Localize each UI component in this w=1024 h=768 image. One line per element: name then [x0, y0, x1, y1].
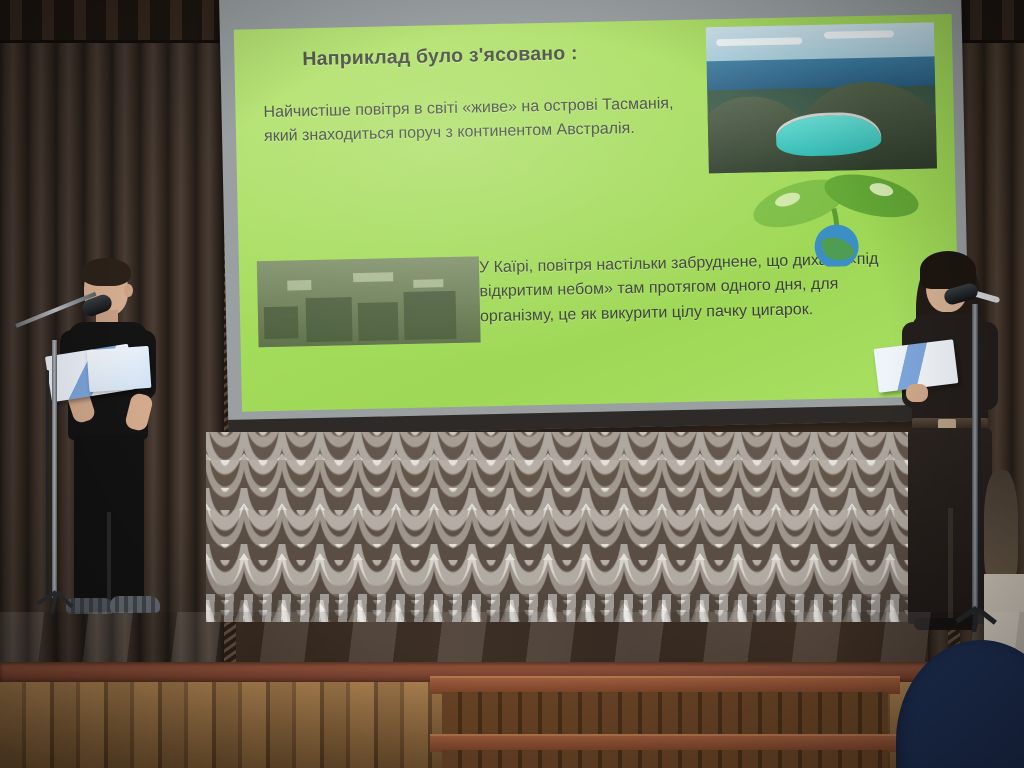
auditorium-stage-photo: Наприклад було з'ясовано : Найчистіше по…	[0, 0, 1024, 768]
tasmania-coast-photo	[706, 22, 937, 173]
city-block	[358, 302, 399, 341]
mic-pole	[972, 304, 978, 614]
presenter-ear	[124, 284, 133, 297]
presentation-slide: Наприклад було з'ясовано : Найчистіше по…	[234, 14, 960, 412]
slide-paragraph-tasmania: Найчистіше повітря в світі «живе» на ост…	[263, 92, 694, 150]
city-highlight	[413, 279, 443, 288]
mic-pole	[52, 340, 57, 598]
projection-screen: Наприклад було з'ясовано : Найчистіше по…	[219, 0, 970, 436]
festoon-backdrop-curtain	[206, 432, 974, 622]
city-highlight	[287, 280, 311, 291]
mic-tripod-base	[18, 592, 94, 614]
sprout-globe-photo	[721, 160, 949, 269]
mic-cable	[978, 338, 981, 610]
slide-title: Наприклад було з'ясовано :	[302, 42, 578, 71]
city-block	[264, 306, 299, 339]
step-riser	[442, 750, 888, 768]
step-riser	[442, 692, 888, 736]
sprout-globe-icon	[721, 160, 949, 269]
mic-cable	[46, 370, 49, 596]
mic-tripod-base	[940, 608, 1016, 632]
city-block	[404, 291, 457, 340]
photo-sea	[707, 56, 936, 90]
mic-capsule	[942, 282, 979, 307]
microphone-right	[930, 278, 1024, 638]
presenter-hair	[81, 258, 131, 286]
microphone-left	[0, 300, 120, 622]
presenter-hand	[906, 384, 928, 402]
cairo-cityscape-photo	[257, 256, 481, 347]
city-highlight	[353, 272, 393, 282]
stage-steps	[430, 676, 900, 768]
city-block	[306, 297, 353, 342]
